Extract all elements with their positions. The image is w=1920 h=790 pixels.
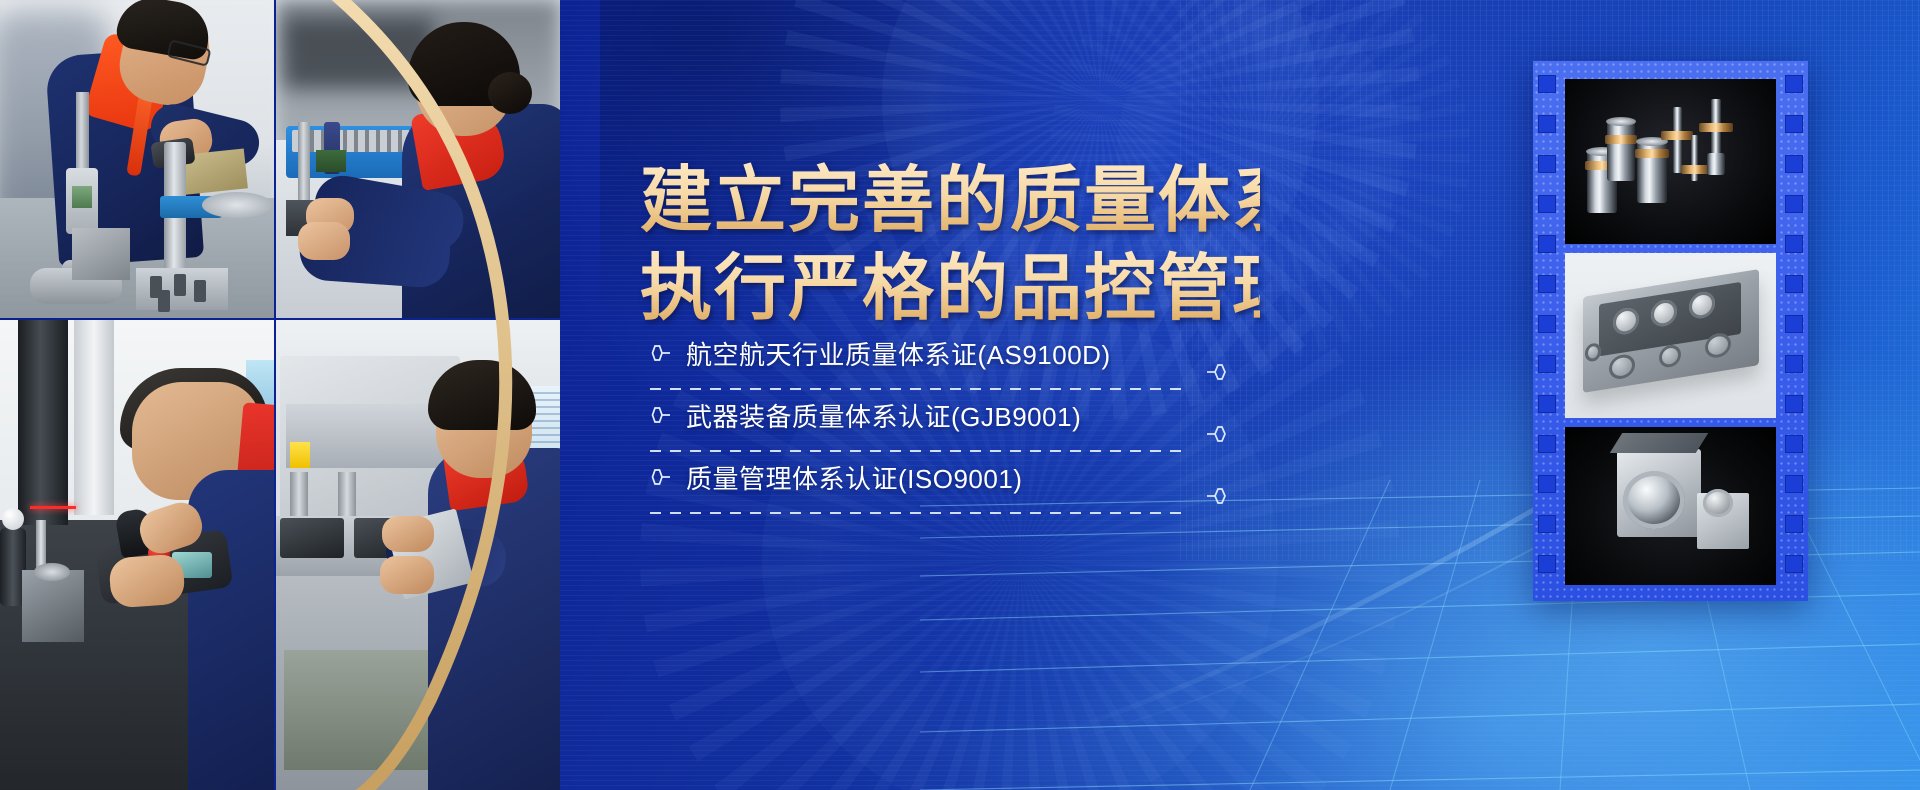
- cnc-machine-operator-photo: [276, 320, 560, 790]
- cmm-measurement-photo: [0, 320, 274, 790]
- height-gauge-inspection-photo: [0, 0, 274, 318]
- certification-label: 武器装备质量体系认证(GJB9001): [686, 397, 1081, 434]
- photo-collage: [0, 0, 560, 790]
- hexagon-end-icon: [1204, 424, 1230, 444]
- certification-divider: [650, 388, 1188, 390]
- precision-shafts-bushings-product[interactable]: [1565, 79, 1776, 244]
- headline: 建立完善的质量体系 执行严格的品控管理: [640, 160, 1260, 331]
- headline-line-1: 建立完善的质量体系: [640, 160, 1260, 244]
- quality-system-banner: 建立完善的质量体系 执行严格的品控管理 航空航天行业质量体系证(AS9100D): [0, 0, 1920, 790]
- certification-label: 航空航天行业质量体系证(AS9100D): [686, 335, 1111, 372]
- bearing-block-product[interactable]: [1565, 427, 1776, 585]
- certification-label: 质量管理体系认证(ISO9001): [686, 459, 1022, 496]
- certification-item[interactable]: 武器装备质量体系认证(GJB9001): [648, 392, 1208, 454]
- aluminium-housing-product[interactable]: [1565, 253, 1776, 418]
- headline-line-2: 执行严格的品控管理: [640, 248, 1260, 332]
- hexagon-end-icon: [1204, 486, 1230, 506]
- certification-divider: [650, 512, 1188, 514]
- certification-list: 航空航天行业质量体系证(AS9100D) 武器装备质量体系认证(GJB9001): [648, 330, 1208, 516]
- hexagon-end-icon: [1204, 362, 1230, 382]
- certification-item[interactable]: 航空航天行业质量体系证(AS9100D): [648, 330, 1208, 392]
- film-perforations-right: [1785, 61, 1803, 601]
- dial-gauge-inspection-photo: [276, 0, 560, 318]
- hexagon-bullet-icon: [648, 468, 672, 486]
- certification-divider: [650, 450, 1188, 452]
- hexagon-bullet-icon: [648, 344, 672, 362]
- banner-content: 建立完善的质量体系 执行严格的品控管理 航空航天行业质量体系证(AS9100D): [640, 0, 1260, 790]
- film-perforations-left: [1538, 61, 1556, 601]
- hexagon-bullet-icon: [648, 406, 672, 424]
- product-film-strip: [1533, 61, 1808, 601]
- certification-item[interactable]: 质量管理体系认证(ISO9001): [648, 454, 1208, 516]
